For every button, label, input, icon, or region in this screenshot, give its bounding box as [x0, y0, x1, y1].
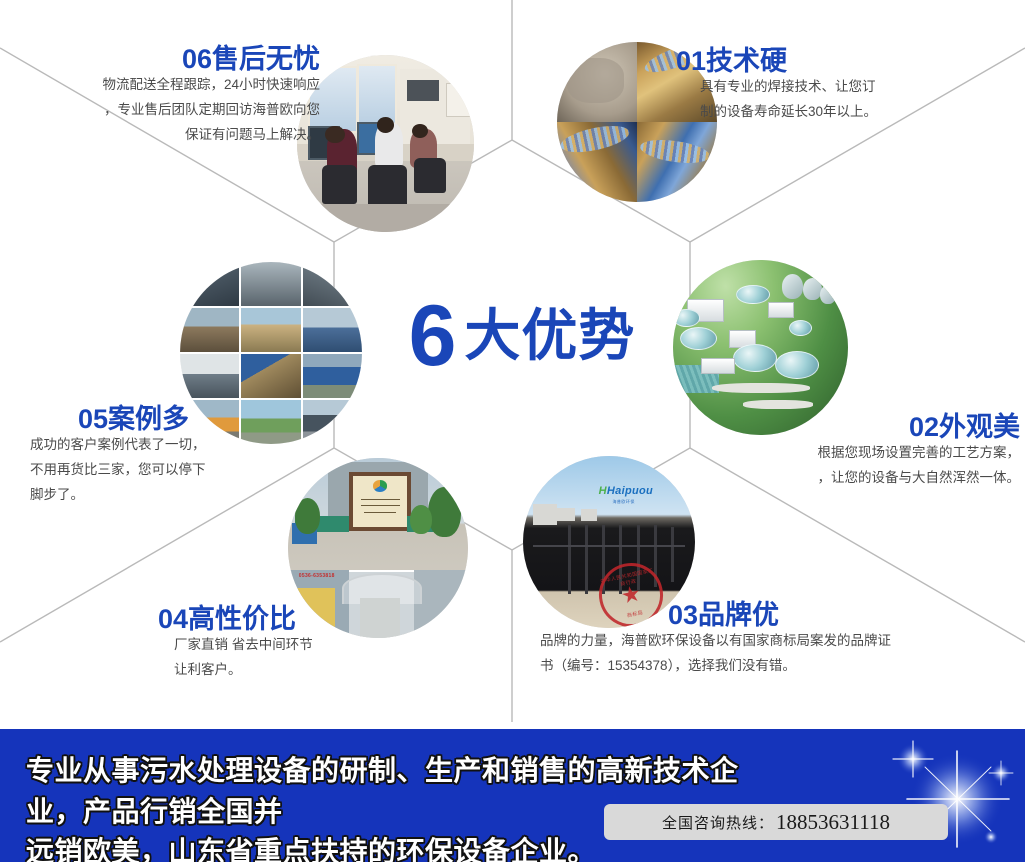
advantage-06-image	[297, 55, 474, 232]
advantage-06-block: 06售后无忧 物流配送全程跟踪，24小时快速响应 ，专业售后团队定期回访海普欧向…	[20, 46, 320, 148]
advantage-03-desc-line-2: 书（编号：15354378），选择我们没有错。	[540, 654, 940, 679]
advantage-02-desc-line-1: 根据您现场设置完善的工艺方案，	[690, 441, 1020, 466]
advantage-01-heading: 01技术硬	[676, 48, 996, 75]
hotline-number: 18853631118	[776, 810, 890, 835]
advantage-03-heading: 03品牌优	[540, 602, 940, 629]
advantage-05-heading: 05案例多	[30, 406, 310, 433]
advantage-04-desc-line-1: 厂家直销 省去中间环节	[174, 633, 450, 658]
advantage-05-desc-line-2: 不用再货比三家，您可以停下	[30, 458, 310, 483]
footer-banner: 专业从事污水处理设备的研制、生产和销售的高新技术企业，产品行销全国并 远销欧美，…	[0, 729, 1025, 862]
center-label: 6 大优势	[382, 286, 662, 386]
hotline-box[interactable]: 全国咨询热线： 18853631118	[604, 804, 948, 840]
haipuou-watermark: HHaipuou	[599, 485, 653, 497]
infographic-root: 6 大优势	[0, 0, 1025, 862]
advantage-04-desc: 厂家直销 省去中间环节 让利客户。	[150, 633, 450, 683]
advantage-04-heading: 04高性价比	[150, 606, 450, 633]
advantage-02-desc-line-2: ，让您的设备与大自然浑然一体。	[690, 466, 1020, 491]
advantage-04-block: 04高性价比 厂家直销 省去中间环节 让利客户。	[150, 606, 450, 683]
center-number: 6	[409, 293, 455, 379]
advantage-02-desc: 根据您现场设置完善的工艺方案， ，让您的设备与大自然浑然一体。	[690, 441, 1020, 491]
advantage-06-desc-line-1: 物流配送全程跟踪，24小时快速响应	[20, 73, 320, 98]
advantage-06-desc: 物流配送全程跟踪，24小时快速响应 ，专业售后团队定期回访海普欧向您 保证有问题…	[20, 73, 320, 148]
haipuou-watermark-sub: 海普欧环保	[612, 499, 635, 505]
hotline-label: 全国咨询热线：	[662, 812, 774, 833]
advantage-01-desc: 具有专业的焊接技术、让您订 制的设备寿命延长30年以上。	[676, 75, 996, 125]
advantage-06-desc-line-2: ，专业售后团队定期回访海普欧向您	[20, 98, 320, 123]
advantage-02-heading: 02外观美	[690, 414, 1020, 441]
advantage-05-block: 05案例多 成功的客户案例代表了一切， 不用再货比三家，您可以停下 脚步了。	[30, 406, 310, 508]
advantage-05-desc-line-3: 脚步了。	[30, 483, 310, 508]
advantage-04-desc-line-2: 让利客户。	[174, 658, 450, 683]
sparkle-decoration	[795, 729, 1025, 862]
advantage-02-block: 02外观美 根据您现场设置完善的工艺方案， ，让您的设备与大自然浑然一体。	[690, 414, 1020, 491]
advantage-05-desc: 成功的客户案例代表了一切， 不用再货比三家，您可以停下 脚步了。	[30, 433, 310, 508]
advantage-03-block: 03品牌优 品牌的力量，海普欧环保设备以有国家商标局案发的品牌证 书（编号：15…	[540, 602, 940, 679]
advantage-06-desc-line-3: 保证有问题马上解决。	[20, 123, 320, 148]
center-text: 大优势	[464, 308, 635, 364]
advantage-06-heading: 06售后无忧	[20, 46, 320, 73]
advantage-02-image	[673, 260, 848, 435]
advantage-01-block: 01技术硬 具有专业的焊接技术、让您订 制的设备寿命延长30年以上。	[676, 48, 996, 125]
advantage-01-desc-line-2: 制的设备寿命延长30年以上。	[700, 100, 996, 125]
advantage-01-desc-line-1: 具有专业的焊接技术、让您订	[700, 75, 996, 100]
advantage-05-desc-line-1: 成功的客户案例代表了一切，	[30, 433, 310, 458]
advantage-03-desc-line-1: 品牌的力量，海普欧环保设备以有国家商标局案发的品牌证	[540, 629, 940, 654]
advantage-03-desc: 品牌的力量，海普欧环保设备以有国家商标局案发的品牌证 书（编号：15354378…	[540, 629, 940, 679]
